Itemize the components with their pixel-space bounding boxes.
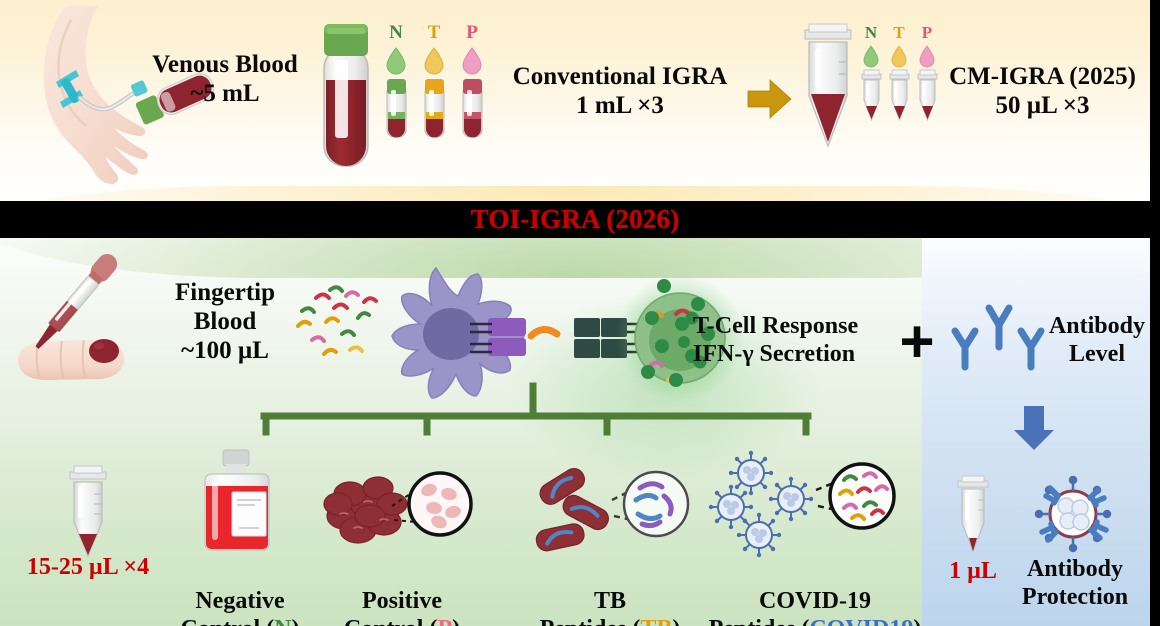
cm-igra-label: CM-IGRA (2025) 50 µL ×3: [930, 62, 1150, 120]
mycobacteria-icon: [530, 454, 690, 556]
coronavirus-icon: [712, 450, 898, 556]
conventional-igra-label: Conventional IGRA 1 mL ×3: [495, 62, 745, 120]
gold-arrow-icon: [746, 78, 794, 120]
svg-text:P: P: [922, 23, 932, 42]
tb-peptides-tag: TB: [640, 616, 672, 626]
fingertip-blood-label: Fingertip Blood ~100 µL: [145, 278, 305, 365]
svg-text:T: T: [893, 23, 905, 42]
tcell-response-label: T-Cell Response IFN-γ Secretion: [693, 313, 918, 369]
graphical-abstract: Venous Blood ~5 mL: [0, 0, 1160, 626]
positive-control-label: Positive Control (P): [332, 560, 472, 626]
tb-peptides-text: TB Peptides (: [540, 588, 641, 626]
antibody-microtube-icon: [955, 474, 991, 554]
virus-neutralization-icon: [1024, 466, 1122, 562]
svg-text:T: T: [428, 22, 441, 43]
media-bottle-icon: [195, 450, 281, 554]
antibody-level-label: Antibody Level: [1036, 313, 1150, 369]
covid-peptides-label: COVID-19 Peptides (COVID19): [700, 560, 930, 626]
blue-down-arrow-icon: [1010, 404, 1058, 452]
svg-text:N: N: [865, 23, 878, 42]
svg-text:N: N: [389, 22, 403, 43]
blood-tube-set-icon: N T: [318, 22, 493, 177]
microtube-icon: [66, 464, 110, 560]
negative-control-tail: ): [291, 616, 299, 626]
positive-control-tag: P: [437, 616, 452, 626]
sample-volume-label: 15-25 µL ×4: [8, 554, 168, 582]
title-banner: TOI-IGRA (2026): [0, 201, 1160, 238]
venous-blood-label: Venous Blood ~5 mL: [130, 50, 320, 108]
top-panel-conventional-workflow: Venous Blood ~5 mL: [0, 0, 1150, 201]
negative-control-tag: N: [274, 616, 291, 626]
plus-sign: +: [893, 312, 941, 372]
bottom-panel-toi-igra-workflow: Fingertip Blood ~100 µL: [0, 238, 1150, 626]
svg-text:P: P: [466, 22, 478, 43]
positive-control-text: Positive Control (: [344, 588, 442, 626]
antibody-volume-label: 1 µL: [930, 558, 1016, 586]
branch-bracket: [260, 386, 812, 432]
negative-control-text: Negative Control (: [181, 588, 285, 626]
positive-control-tail: ): [452, 616, 460, 626]
negative-control-label: Negative Control (N): [170, 560, 310, 626]
tb-peptides-tail: ): [672, 616, 680, 626]
antibody-protection-label: Antibody Protection: [1010, 556, 1140, 612]
microtube-set-icon: N T: [803, 22, 938, 172]
figure-title: TOI-IGRA (2026): [0, 201, 1150, 238]
mitogen-cells-icon: [322, 454, 472, 556]
covid-peptides-tag: COVID19: [809, 616, 913, 626]
covid-peptides-tail: ): [913, 616, 921, 626]
antibody-icon: [947, 301, 1047, 373]
tb-peptides-label: TB Peptides (TB): [520, 560, 700, 626]
